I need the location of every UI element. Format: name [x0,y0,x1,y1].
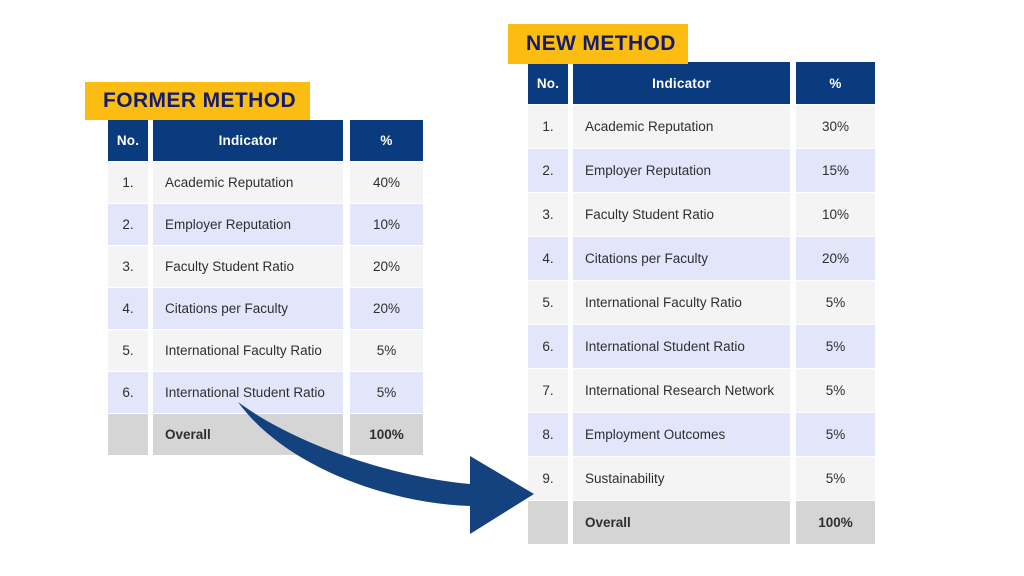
table-row[interactable]: 6.International Student Ratio5% [528,325,875,368]
table-row[interactable]: 4.Citations per Faculty20% [108,288,423,329]
row-number: 5. [528,281,568,324]
row-indicator: Citations per Faculty [573,237,790,280]
row-indicator: Citations per Faculty [153,288,343,329]
row-indicator: Academic Reputation [573,105,790,148]
row-percent: 10% [350,204,423,245]
row-number: 4. [528,237,568,280]
table-header-row: No. Indicator % [108,120,423,161]
row-number: 2. [528,149,568,192]
table-row[interactable]: 7.International Research Network5% [528,369,875,412]
row-percent: 5% [350,330,423,371]
row-indicator: International Student Ratio [573,325,790,368]
table-row[interactable]: 6.International Student Ratio5% [108,372,423,413]
table-row[interactable]: 5.International Faculty Ratio5% [108,330,423,371]
row-percent: 15% [796,149,875,192]
row-indicator: International Research Network [573,369,790,412]
row-indicator: Sustainability [573,457,790,500]
column-header-no: No. [108,120,148,161]
total-percent: 100% [350,414,423,455]
new-method-table: No. Indicator % 1.Academic Reputation30%… [528,62,875,545]
new-method-badge: NEW METHOD [508,24,688,64]
total-label: Overall [153,414,343,455]
table-header-row: No. Indicator % [528,62,875,104]
row-number: 7. [528,369,568,412]
table-total-row: Overall100% [528,501,875,544]
column-header-percent: % [796,62,875,104]
table-row[interactable]: 4.Citations per Faculty20% [528,237,875,280]
row-percent: 5% [796,457,875,500]
table-total-row: Overall100% [108,414,423,455]
row-number: 4. [108,288,148,329]
former-method-table: No. Indicator % 1.Academic Reputation40%… [108,120,423,456]
total-number [528,501,568,544]
row-number: 1. [528,105,568,148]
column-header-indicator: Indicator [573,62,790,104]
new-table-body: 1.Academic Reputation30%2.Employer Reput… [528,105,875,544]
table-row[interactable]: 8.Employment Outcomes5% [528,413,875,456]
table-row[interactable]: 2.Employer Reputation15% [528,149,875,192]
row-percent: 5% [796,369,875,412]
row-number: 1. [108,162,148,203]
row-percent: 5% [796,281,875,324]
row-number: 5. [108,330,148,371]
row-number: 2. [108,204,148,245]
row-percent: 40% [350,162,423,203]
former-method-badge: FORMER METHOD [85,82,310,120]
table-row[interactable]: 3.Faculty Student Ratio20% [108,246,423,287]
row-number: 8. [528,413,568,456]
row-indicator: International Faculty Ratio [573,281,790,324]
row-indicator: Employer Reputation [573,149,790,192]
row-indicator: Academic Reputation [153,162,343,203]
row-number: 3. [108,246,148,287]
row-percent: 10% [796,193,875,236]
total-label: Overall [573,501,790,544]
row-indicator: Employment Outcomes [573,413,790,456]
row-indicator: Faculty Student Ratio [573,193,790,236]
row-percent: 20% [796,237,875,280]
former-table-body: 1.Academic Reputation40%2.Employer Reput… [108,162,423,455]
row-percent: 20% [350,246,423,287]
row-indicator: International Faculty Ratio [153,330,343,371]
comparison-slide: FORMER METHOD No. Indicator % 1.Academic… [0,0,1024,576]
row-percent: 30% [796,105,875,148]
column-header-percent: % [350,120,423,161]
table-row[interactable]: 3.Faculty Student Ratio10% [528,193,875,236]
row-percent: 5% [796,413,875,456]
row-number: 6. [528,325,568,368]
row-indicator: Employer Reputation [153,204,343,245]
table-row[interactable]: 1.Academic Reputation30% [528,105,875,148]
table-row[interactable]: 2.Employer Reputation10% [108,204,423,245]
column-header-indicator: Indicator [153,120,343,161]
table-row[interactable]: 5.International Faculty Ratio5% [528,281,875,324]
row-percent: 5% [350,372,423,413]
row-indicator: Faculty Student Ratio [153,246,343,287]
row-number: 3. [528,193,568,236]
row-number: 6. [108,372,148,413]
total-number [108,414,148,455]
column-header-no: No. [528,62,568,104]
row-percent: 5% [796,325,875,368]
new-method-badge-label: NEW METHOD [526,32,676,56]
row-indicator: International Student Ratio [153,372,343,413]
total-percent: 100% [796,501,875,544]
table-row[interactable]: 9.Sustainability5% [528,457,875,500]
former-method-badge-label: FORMER METHOD [103,89,296,113]
row-percent: 20% [350,288,423,329]
row-number: 9. [528,457,568,500]
table-row[interactable]: 1.Academic Reputation40% [108,162,423,203]
